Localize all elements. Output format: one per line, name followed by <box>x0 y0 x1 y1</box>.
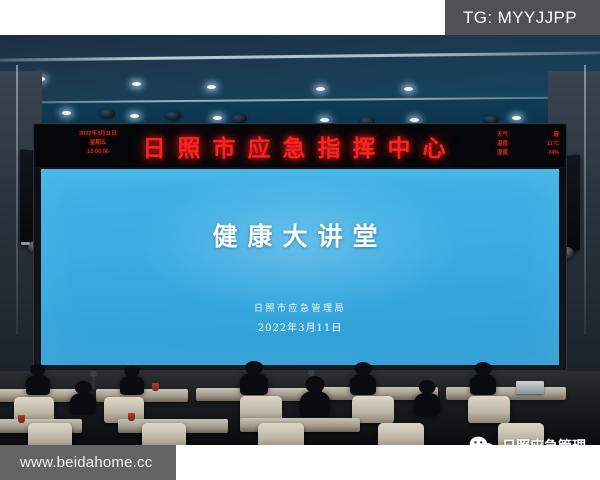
audience-person <box>300 391 330 417</box>
cup <box>152 383 159 391</box>
weather-value: 霾 <box>553 131 559 140</box>
weather-value: 74% <box>548 149 559 158</box>
wechat-account-watermark: 日照应急管理 <box>469 435 586 445</box>
ceiling-downlight <box>404 87 413 91</box>
weather-row: 湿度 74% <box>497 149 559 158</box>
chair <box>468 396 510 423</box>
right-wall-edge-trim <box>584 65 586 335</box>
led-ticker-banner: 2022年3月11日 星期五 15:06:06 日照市应急指挥中心 天气 霾 温… <box>35 125 565 167</box>
audience-person <box>26 375 50 395</box>
wechat-icon <box>469 435 495 445</box>
left-wall-edge-trim <box>16 65 18 335</box>
audience-person <box>70 393 96 415</box>
audience-person <box>350 374 376 395</box>
ceiling-downlight <box>207 85 216 89</box>
chair <box>28 423 72 445</box>
conference-hall-photo: 2022年3月11日 星期五 15:06:06 日照市应急指挥中心 天气 霾 温… <box>0 35 600 445</box>
weather-label: 温度 <box>497 140 508 149</box>
audience-person <box>120 376 144 395</box>
ticker-headline: 日照市应急指挥中心 <box>35 129 565 163</box>
site-url-text: www.beidahome.cc <box>20 454 152 471</box>
telegram-tag-watermark: TG: MYYJJPP <box>445 0 600 35</box>
weather-row: 天气 霾 <box>497 131 559 140</box>
ceiling-downlight <box>62 111 71 115</box>
ceiling-spotlight <box>166 111 181 120</box>
ceiling-downlight <box>320 118 329 122</box>
audience-person <box>414 393 440 416</box>
ceiling-downlight <box>130 114 139 118</box>
desk-microphone <box>92 375 95 389</box>
floor-and-seating-area <box>0 371 600 445</box>
wechat-account-name: 日照应急管理 <box>502 436 586 445</box>
led-video-wall: 2022年3月11日 星期五 15:06:06 日照市应急指挥中心 天气 霾 温… <box>33 123 567 371</box>
ceiling-spotlight <box>100 109 115 118</box>
weather-row: 温度 11℃ <box>497 140 559 149</box>
telegram-tag-text: TG: MYYJJPP <box>463 8 577 28</box>
weather-value: 11℃ <box>547 140 559 149</box>
ceiling-spotlight <box>232 114 247 123</box>
ceiling-downlight <box>316 87 325 91</box>
ceiling-downlight <box>132 82 141 86</box>
slide-date: 2022年3月11日 <box>41 319 559 334</box>
presentation-slide: 健康大讲堂 日照市应急管理局 2022年3月11日 <box>41 169 559 365</box>
ceiling-downlight <box>512 116 521 120</box>
cup <box>18 415 25 423</box>
audience-person <box>240 373 268 395</box>
audience-person <box>470 374 496 395</box>
laptop <box>516 381 544 394</box>
ceiling-trim-strip-upper <box>0 51 600 62</box>
weather-label: 天气 <box>497 131 508 140</box>
right-wall-speaker-panel <box>565 154 580 252</box>
ceiling-downlight <box>213 116 222 120</box>
cup <box>128 413 135 421</box>
slide-organization: 日照市应急管理局 <box>41 301 559 314</box>
weather-label: 湿度 <box>497 149 508 158</box>
chair <box>258 423 304 445</box>
chair <box>142 423 186 445</box>
site-url-watermark: www.beidahome.cc <box>0 445 176 480</box>
chair <box>378 423 424 445</box>
slide-title: 健康大讲堂 <box>41 217 559 253</box>
ceiling-downlight <box>410 118 419 122</box>
ticker-weather-block: 天气 霾 温度 11℃ 湿度 74% <box>497 131 559 158</box>
